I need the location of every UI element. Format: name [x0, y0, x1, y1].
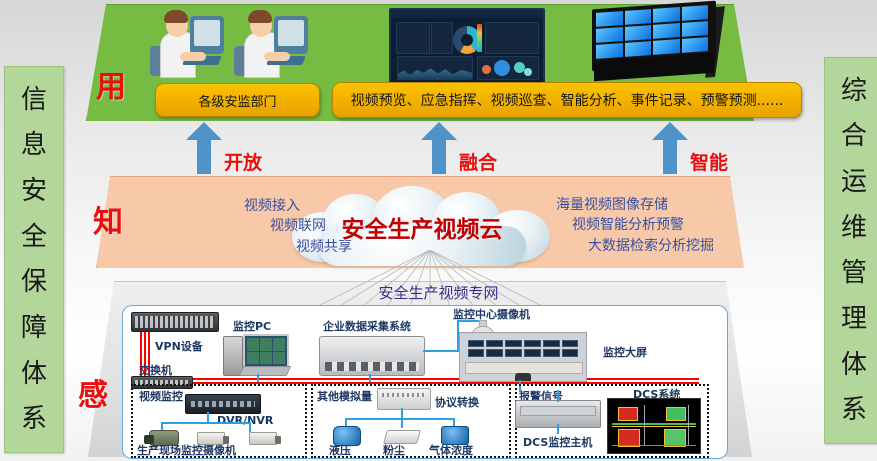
video-wall-illustration [592, 5, 720, 81]
infrastructure-panel: VPN设备 交换机 监控PC 企业数据采集系统 监控中心摄像机 [122, 305, 728, 459]
analog-bus [345, 418, 455, 420]
pillar-left-char-2: 安 [21, 178, 47, 204]
sensor-label-gas: 气体浓度 [429, 442, 473, 458]
arrow-intelligent [652, 122, 688, 174]
layer-letter-know: 知 [93, 197, 123, 241]
bullet-camera-2-icon [249, 432, 277, 445]
cloud-left-capabilities: 视频接入 视频联网 视频共享 [130, 196, 300, 257]
cloud-left-item-0: 视频接入 [130, 196, 300, 216]
cloud-right-item-0: 海量视频图像存储 [556, 195, 786, 215]
operators-at-computers-illustration [148, 6, 308, 80]
pillar-right-char-1: 合 [841, 123, 867, 149]
pillar-left-char-5: 障 [21, 315, 47, 341]
pc-keyboard-icon [239, 366, 291, 376]
cloud-title: 安全生产视频云 [288, 210, 556, 244]
cloud-right-item-2: 大数据检索分析挖掘 [588, 236, 786, 256]
vpn-device-label: VPN设备 [155, 338, 203, 354]
dcs-process-screen [607, 398, 701, 454]
pillar-right-char-5: 理 [841, 306, 867, 332]
data-collect-label: 企业数据采集系统 [323, 318, 411, 334]
layer-letter-use: 用 [96, 62, 126, 106]
big-screen-label: 监控大屏 [603, 344, 647, 360]
pillar-left-char-6: 体 [21, 361, 47, 387]
pillar-left-char-1: 息 [21, 132, 47, 158]
dvr-nvr-label: DVR/NVR [217, 414, 273, 427]
pillar-information-security: 信 息 安 全 保 障 体 系 [4, 66, 64, 453]
cloud-right-capabilities: 海量视频图像存储 视频智能分析预警 大数据检索分析挖掘 [556, 195, 786, 256]
sensor-label-dust: 粉尘 [383, 442, 405, 458]
private-network-label: 安全生产视频专网 [0, 282, 877, 303]
vpn-device-icon [131, 312, 219, 332]
arrow-label-open: 开放 [224, 148, 262, 175]
dvr-drop-2 [249, 422, 251, 432]
pillar-operations-management: 综 合 运 维 管 理 体 系 [824, 57, 877, 444]
pc-monitor-icon [243, 334, 289, 368]
dcs-wire-top [557, 390, 559, 402]
layer-letter-sense: 感 [78, 370, 108, 414]
server-wire [369, 374, 371, 382]
group-analog-title: 其他模拟量 [317, 388, 372, 404]
arrow-converge [421, 122, 457, 174]
pc-tower-icon [223, 336, 243, 376]
dcs-host-label: DCS监控主机 [523, 434, 592, 450]
group-video-caption: 生产现场监控摄像机 [137, 442, 236, 458]
data-collect-server-icon [319, 336, 425, 376]
monitor-pc-label: 监控PC [233, 318, 271, 334]
functions-pill[interactable]: 视频预览、应急指挥、视频巡查、智能分析、事件记录、预警预测...... [332, 82, 802, 118]
pillar-right-char-6: 体 [841, 352, 867, 378]
pillar-right-char-0: 综 [841, 78, 867, 104]
arrow-open [186, 122, 222, 174]
dvr-bus [161, 422, 251, 424]
pillar-left-char-0: 信 [21, 87, 47, 113]
pillar-right-char-2: 运 [841, 169, 867, 195]
analog-drop-1 [401, 418, 403, 428]
server-to-center-wire [423, 350, 459, 352]
cloud-right-item-1: 视频智能分析预警 [572, 215, 786, 235]
pc-wire [257, 374, 259, 382]
protocol-converter-label: 协议转换 [435, 394, 479, 410]
control-room-photo [459, 332, 587, 382]
group-video-title: 视频监控 [139, 388, 183, 404]
dvr-drop-1 [207, 412, 209, 424]
dvr-nvr-icon [185, 394, 261, 414]
dcs-wire-bottom [557, 424, 559, 434]
dept-pill[interactable]: 各级安监部门 [155, 83, 320, 117]
architecture-diagram: 信 息 安 全 保 障 体 系 综 合 运 维 管 理 体 系 [0, 0, 877, 461]
protocol-converter-icon [377, 388, 431, 410]
sensor-label-hydraulic: 液压 [329, 442, 351, 458]
pillar-right-char-7: 系 [841, 397, 867, 423]
arrow-label-converge: 融合 [459, 148, 497, 175]
pillar-right-char-3: 维 [841, 215, 867, 241]
pillar-left-char-7: 系 [21, 406, 47, 432]
arrow-label-intelligent: 智能 [690, 148, 728, 175]
data-dashboard-screen-illustration [389, 8, 545, 84]
pillar-left-char-3: 全 [21, 224, 47, 250]
